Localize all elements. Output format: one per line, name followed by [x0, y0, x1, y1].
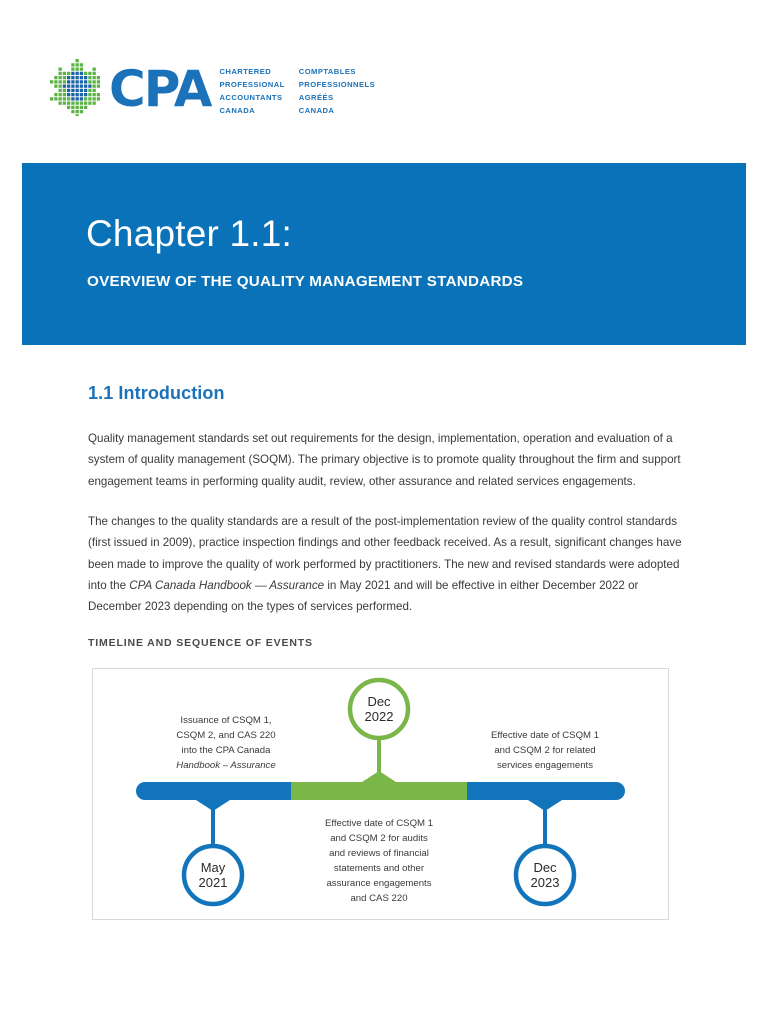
cpa-wordmark-text: CPA	[109, 64, 210, 114]
logo-descriptor-english: CHARTERED PROFESSIONAL ACCOUNTANTS CANAD…	[219, 65, 284, 117]
intro-paragraph-1: Quality management standards set out req…	[88, 428, 688, 492]
logo-en-line-4: CANADA	[219, 104, 284, 117]
label-audits: Effective date of CSQM 1 and CSQM 2 for …	[325, 818, 433, 904]
label-issuance-line-3-plain: into the	[182, 745, 216, 756]
main-content: 1.1 Introduction Quality management stan…	[88, 383, 688, 649]
chapter-title: Chapter 1.1:	[86, 213, 292, 255]
maple-leaf-icon	[48, 58, 100, 116]
label-related-line-3: services engagements	[497, 760, 593, 771]
page-title: 1.1 Introduction	[88, 383, 688, 404]
marker-may-2021-year: 2021	[199, 875, 228, 890]
label-audits-line-2: and CSQM 2 for audits	[330, 833, 428, 844]
label-issuance: Issuance of CSQM 1, CSQM 2, and CAS 220 …	[176, 715, 275, 771]
label-issuance-line-4: Handbook – Assurance	[176, 760, 275, 771]
marker-dec-2022-month: Dec	[367, 694, 391, 709]
logo-fr-line-3: AGRÉÉS	[299, 91, 391, 104]
chapter-banner: Chapter 1.1: OVERVIEW OF THE QUALITY MAN…	[22, 163, 746, 345]
logo-en-line-3: ACCOUNTANTS	[219, 91, 284, 104]
label-issuance-line-2: CSQM 2, and CAS 220	[176, 730, 275, 741]
marker-may-2021-month: May	[201, 860, 226, 875]
timeline-bar-green-segment	[291, 782, 467, 800]
label-related-services: Effective date of CSQM 1 and CSQM 2 for …	[491, 730, 599, 771]
label-issuance-line-3-italic: CPA Canada	[216, 745, 271, 756]
label-related-line-2: and CSQM 2 for related	[494, 745, 595, 756]
timeline-diagram: Dec 2022 May 2021 Dec 2023 Issuance of C…	[92, 668, 669, 920]
label-audits-line-6: and CAS 220	[350, 893, 407, 904]
chapter-subtitle: OVERVIEW OF THE QUALITY MANAGEMENT STAND…	[87, 273, 523, 290]
logo-en-line-2: PROFESSIONAL	[219, 78, 284, 91]
logo-fr-line-1: COMPTABLES	[299, 65, 391, 78]
label-audits-line-1: Effective date of CSQM 1	[325, 818, 433, 829]
label-issuance-line-3: into the CPA Canada	[182, 745, 272, 756]
logo-fr-line-2: PROFESSIONNELS	[299, 78, 391, 91]
label-issuance-line-1: Issuance of CSQM 1,	[180, 715, 271, 726]
may-2021-stem	[211, 800, 215, 851]
label-related-line-1: Effective date of CSQM 1	[491, 730, 599, 741]
logo-descriptor-french: COMPTABLES PROFESSIONNELS AGRÉÉS CANADA	[299, 65, 391, 117]
timeline-graphic: Dec 2022 May 2021 Dec 2023 Issuance of C…	[93, 669, 668, 919]
label-audits-line-3: and reviews of financial	[329, 848, 429, 859]
cpa-wordmark: CPA	[109, 60, 210, 114]
timeline-section-heading: TIMELINE AND SEQUENCE OF EVENTS	[88, 637, 688, 649]
dec-2023-stem	[543, 800, 547, 851]
logo-en-line-1: CHARTERED	[219, 65, 284, 78]
logo-descriptor: CHARTERED PROFESSIONAL ACCOUNTANTS CANAD…	[219, 65, 390, 117]
label-audits-line-5: assurance engagements	[326, 878, 431, 889]
marker-dec-2023-year: 2023	[531, 875, 560, 890]
dec-2022-notch	[362, 771, 396, 782]
handbook-reference: CPA Canada Handbook — Assurance	[129, 579, 324, 592]
label-audits-line-4: statements and other	[334, 863, 425, 874]
logo-fr-line-4: CANADA	[299, 104, 391, 117]
cpa-logo: CPA CHARTERED PROFESSIONAL ACCOUNTANTS C…	[48, 56, 391, 117]
marker-dec-2023-month: Dec	[533, 860, 557, 875]
marker-dec-2022-year: 2022	[365, 709, 394, 724]
intro-paragraph-2: The changes to the quality standards are…	[88, 511, 688, 618]
